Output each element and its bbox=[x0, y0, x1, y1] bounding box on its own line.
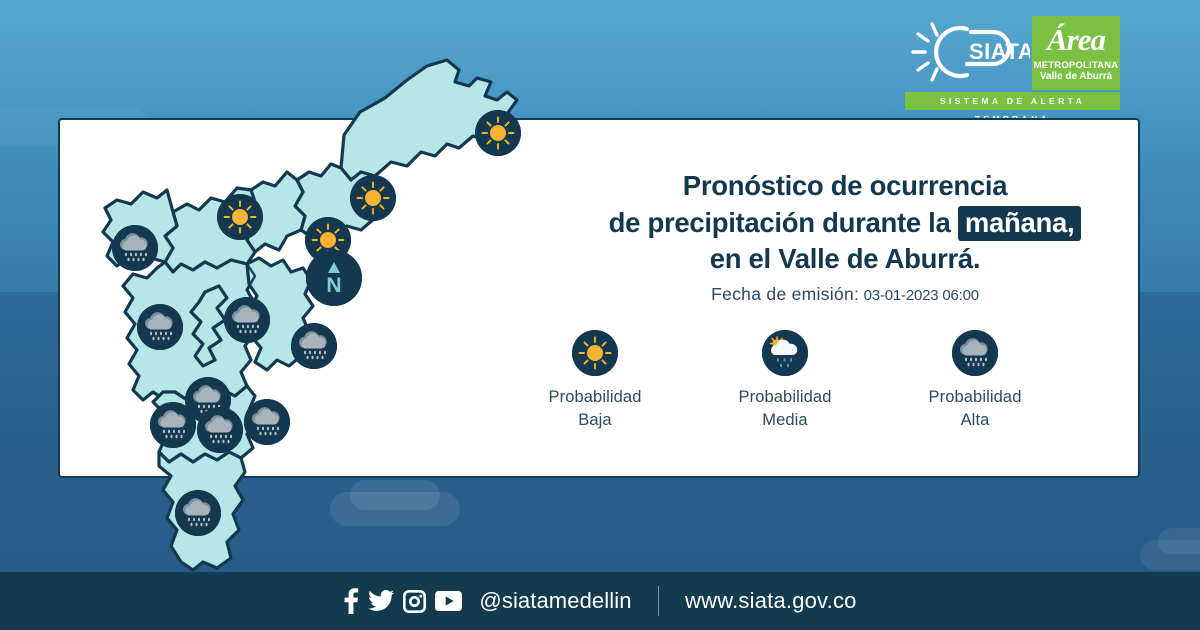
marker-caldas[interactable] bbox=[244, 399, 290, 445]
legend-media-line1: Probabilidad bbox=[739, 388, 832, 406]
legend-baja-line1: Probabilidad bbox=[549, 388, 642, 406]
sun-cloud-rain-icon bbox=[762, 330, 808, 376]
headline-line-2: de precipitación durante la mañana, bbox=[545, 205, 1145, 242]
svg-text:SIATA: SIATA bbox=[969, 39, 1030, 64]
legend-label-baja: Probabilidad Baja bbox=[500, 386, 690, 432]
footer-divider bbox=[658, 586, 660, 616]
legend-media-line2: Media bbox=[762, 411, 807, 429]
marker-medellin[interactable] bbox=[224, 297, 270, 343]
youtube-icon[interactable] bbox=[435, 591, 462, 611]
marker-la-estrella[interactable] bbox=[150, 402, 196, 448]
sun-icon bbox=[572, 330, 618, 376]
legend-item-media: Probabilidad Media bbox=[690, 330, 880, 432]
footer-bar: @siatamedellin www.siata.gov.co bbox=[0, 572, 1200, 630]
marker-girardota[interactable] bbox=[350, 175, 396, 221]
legend-alta-line1: Probabilidad bbox=[929, 388, 1022, 406]
marker-bello[interactable] bbox=[217, 194, 263, 240]
facebook-icon[interactable] bbox=[343, 588, 359, 614]
headline-line-3: en el Valle de Aburrá. bbox=[545, 241, 1145, 278]
north-arrow-icon: N bbox=[306, 250, 362, 306]
emission-date: Fecha de emisión: 03-01-2023 06:00 bbox=[545, 284, 1145, 305]
social-icons bbox=[343, 588, 462, 614]
infographic-canvas: SIATA Área METROPOLITANA Valle de Aburrá… bbox=[0, 0, 1200, 630]
marker-sabaneta[interactable] bbox=[197, 407, 243, 453]
legend-label-alta: Probabilidad Alta bbox=[880, 386, 1070, 432]
emission-date-label: Fecha de emisión: bbox=[711, 284, 859, 304]
marker-medellin-norte[interactable] bbox=[137, 304, 183, 350]
marker-envigado[interactable] bbox=[291, 323, 337, 369]
brand-logo-group: SIATA Área METROPOLITANA Valle de Aburrá… bbox=[905, 16, 1120, 110]
marker-san-jeronimo[interactable] bbox=[112, 225, 158, 271]
valle-de-aburra-map bbox=[55, 40, 535, 570]
area-logo-script: Área bbox=[1032, 18, 1120, 62]
headline-highlight: mañana, bbox=[958, 206, 1081, 241]
twitter-icon[interactable] bbox=[368, 590, 394, 612]
area-metropolitana-logo: Área METROPOLITANA Valle de Aburrá bbox=[1032, 16, 1120, 90]
siata-logo: SIATA bbox=[905, 16, 1030, 88]
headline-line-1: Pronóstico de ocurrencia bbox=[545, 168, 1145, 205]
legend-label-media: Probabilidad Media bbox=[690, 386, 880, 432]
social-handle[interactable]: @siatamedellin bbox=[479, 588, 631, 614]
legend-item-alta: Probabilidad Alta bbox=[880, 330, 1070, 432]
probability-legend: Probabilidad Baja bbox=[500, 330, 1190, 445]
legend-item-baja: Probabilidad Baja bbox=[500, 330, 690, 432]
cloud-rain-icon bbox=[952, 330, 998, 376]
marker-caldas-sur[interactable] bbox=[175, 490, 221, 536]
tagline-bar: SISTEMA DE ALERTA TEMPRANA bbox=[905, 92, 1120, 110]
area-logo-line2: Valle de Aburrá bbox=[1032, 71, 1120, 82]
website-url[interactable]: www.siata.gov.co bbox=[685, 588, 857, 614]
emission-date-value: 03-01-2023 06:00 bbox=[864, 287, 979, 304]
decorative-cloud-right-top bbox=[1158, 528, 1200, 554]
page-title: Pronóstico de ocurrencia de precipitació… bbox=[545, 168, 1145, 278]
headline-line-2-text: de precipitación durante la bbox=[609, 207, 958, 238]
area-logo-line1: METROPOLITANA bbox=[1032, 60, 1120, 71]
legend-alta-line2: Alta bbox=[961, 411, 990, 429]
svg-text:N: N bbox=[326, 274, 341, 297]
legend-baja-line2: Baja bbox=[578, 411, 611, 429]
instagram-icon[interactable] bbox=[403, 590, 426, 613]
marker-barbosa[interactable] bbox=[475, 110, 521, 156]
